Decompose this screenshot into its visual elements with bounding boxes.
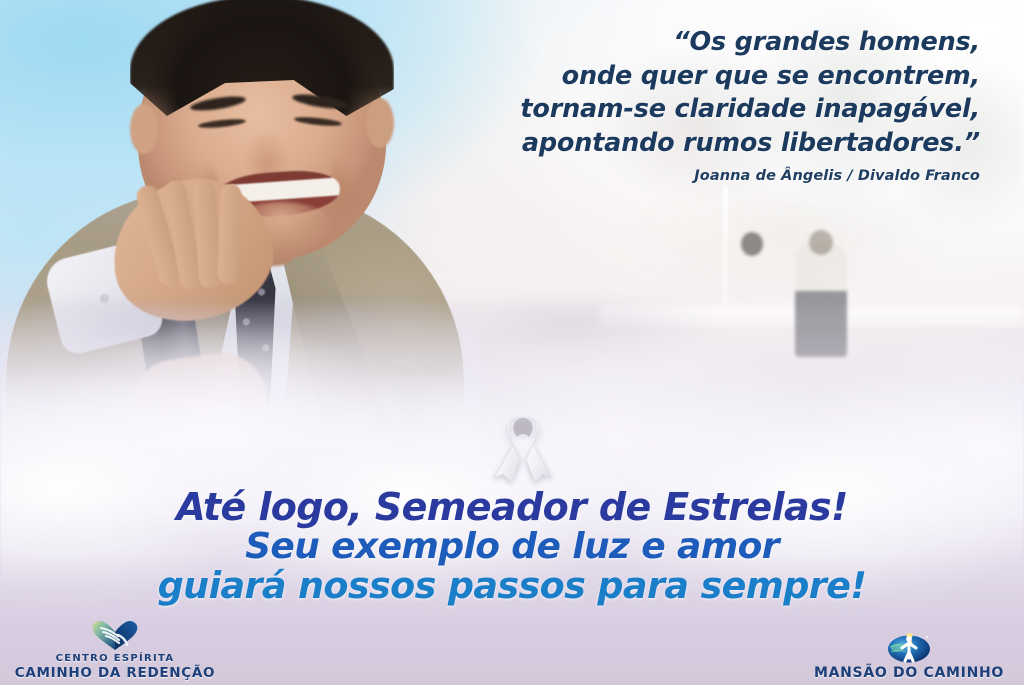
quote-line-1: “Os grandes homens, xyxy=(420,26,980,60)
quote-line-2: onde quer que se encontrem, xyxy=(420,60,980,94)
headline-line-3: guiará nossos passos para sempre! xyxy=(0,566,1024,605)
white-ribbon-icon xyxy=(487,412,559,486)
heart-clasping-hands-icon xyxy=(0,619,230,653)
headline-line-2: Seu exemplo de luz e amor xyxy=(0,528,1024,567)
globe-with-figure-and-flame-icon xyxy=(794,630,1024,664)
portrait-finger xyxy=(217,184,241,285)
background-figure-white-head xyxy=(809,230,833,255)
logo-left-line-2: CAMINHO DA REDENÇÃO xyxy=(0,665,230,681)
logo-centro-espirita: CENTRO ESPÍRITA CAMINHO DA REDENÇÃO xyxy=(0,619,230,681)
portrait-ear-right xyxy=(366,98,394,148)
quote-attribution: Joanna de Ângelis / Divaldo Franco xyxy=(420,168,980,184)
memorial-poster: “Os grandes homens, onde quer que se enc… xyxy=(0,0,1024,685)
headline-block: Até logo, Semeador de Estrelas! Seu exem… xyxy=(0,487,1024,605)
headline-line-1: Até logo, Semeador de Estrelas! xyxy=(0,487,1024,528)
logo-mansao-do-caminho: MANSÃO DO CAMINHO xyxy=(794,630,1024,681)
logo-left-line-1: CENTRO ESPÍRITA xyxy=(0,653,230,664)
portrait-ear-left xyxy=(130,104,158,154)
logo-right-text: MANSÃO DO CAMINHO xyxy=(794,665,1024,681)
quote-line-3: tornam-se claridade inapagável, xyxy=(420,93,980,127)
logo-right-line-2: MANSÃO DO CAMINHO xyxy=(794,665,1024,681)
quote-line-4: apontando rumos libertadores.” xyxy=(420,127,980,161)
background-figure-striped-head xyxy=(741,232,763,256)
quote-block: “Os grandes homens, onde quer que se enc… xyxy=(420,26,980,161)
logo-left-text: CENTRO ESPÍRITA CAMINHO DA REDENÇÃO xyxy=(0,653,230,681)
